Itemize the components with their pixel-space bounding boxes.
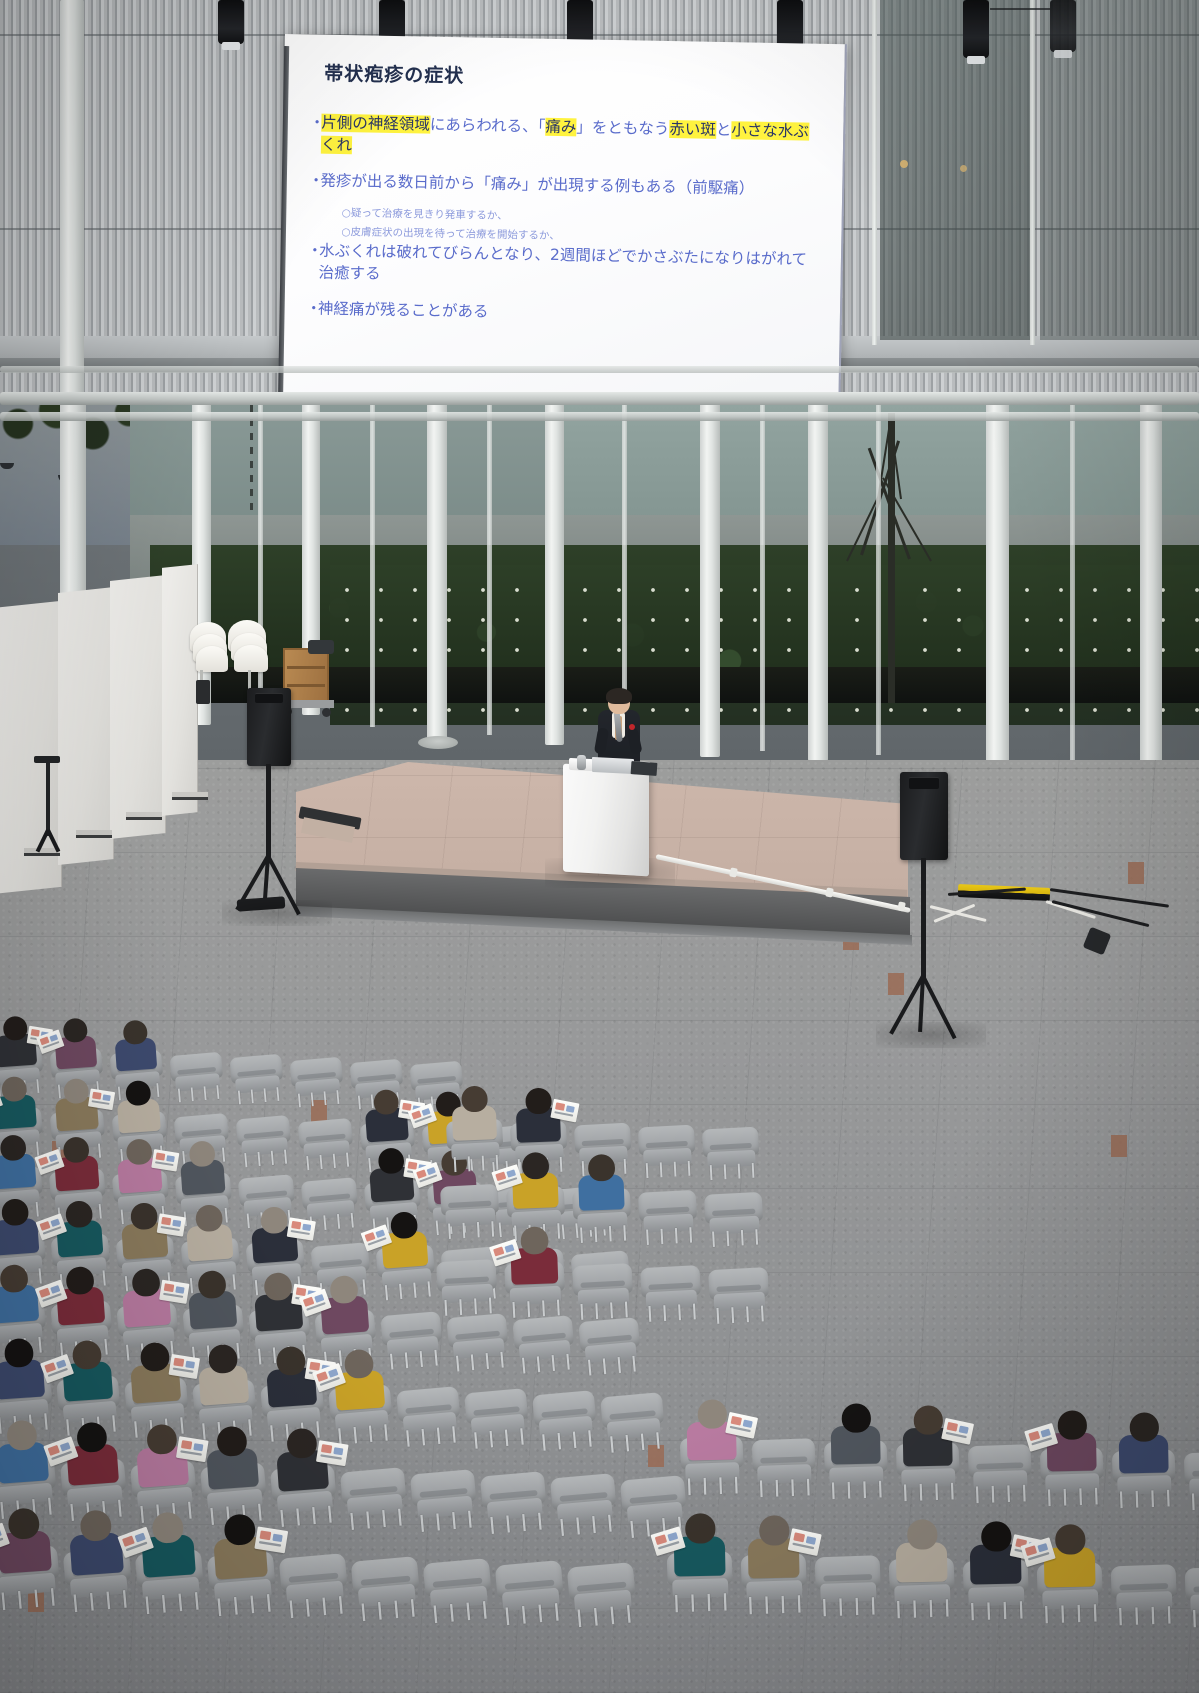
audience-member <box>181 1204 238 1263</box>
audience-chair <box>422 1558 493 1618</box>
audience-member <box>360 1088 413 1143</box>
audience-chair <box>566 1562 637 1622</box>
audience-member <box>130 1423 193 1489</box>
chair-legs <box>675 1593 727 1611</box>
chair-legs <box>1120 1489 1170 1506</box>
audience-member <box>109 1019 160 1072</box>
audience-head <box>0 1198 28 1226</box>
audience-member <box>891 1519 952 1583</box>
audience-member <box>669 1513 730 1577</box>
chair-legs <box>244 1150 287 1167</box>
audience-chair <box>494 1560 565 1620</box>
chair-legs <box>716 1306 763 1323</box>
audience-chair <box>708 1267 770 1319</box>
audience-member <box>270 1427 333 1493</box>
audience-head <box>914 1406 944 1436</box>
audience-member <box>56 1339 117 1402</box>
audience-head <box>2 1016 28 1042</box>
chair-legs <box>580 1302 627 1319</box>
audience-chair <box>702 1127 760 1176</box>
chair-legs <box>712 1230 758 1247</box>
audience-chair <box>396 1386 462 1442</box>
audience-chair <box>550 1473 618 1531</box>
chair-legs <box>306 1152 349 1169</box>
audience-head <box>907 1519 938 1550</box>
audience-chair <box>464 1388 530 1444</box>
audience-member <box>682 1399 741 1460</box>
audience-chair <box>447 1313 510 1367</box>
chair-legs <box>688 1477 738 1494</box>
audience-chair <box>513 1315 576 1369</box>
chair-legs <box>1048 1487 1098 1504</box>
audience-chair <box>301 1177 360 1227</box>
audience-chair <box>579 1317 642 1371</box>
audience-member <box>134 1510 200 1578</box>
chair-legs <box>310 1212 354 1229</box>
audience-member <box>328 1347 389 1410</box>
chair-legs <box>577 1605 630 1626</box>
chair-legs <box>760 1479 810 1496</box>
audience-chair <box>340 1467 408 1525</box>
audience-chair <box>1184 1451 1199 1505</box>
audience-member <box>116 1201 173 1260</box>
chair-legs <box>490 1512 541 1532</box>
chair-legs <box>580 1225 626 1242</box>
chair-legs <box>976 1485 1026 1502</box>
chair-legs <box>237 1088 278 1104</box>
audience-head <box>1058 1410 1088 1440</box>
chair-legs <box>289 1596 342 1617</box>
audience-member <box>192 1343 253 1406</box>
chair-legs <box>610 1432 660 1452</box>
audience-member <box>826 1403 885 1464</box>
chair-legs <box>474 1428 524 1448</box>
audience-member <box>206 1513 272 1581</box>
audience-head <box>373 1088 399 1114</box>
chair-legs <box>456 1351 504 1370</box>
audience-member <box>447 1085 501 1141</box>
audience-chair <box>229 1054 284 1101</box>
chair-legs <box>73 1590 126 1611</box>
audience-member <box>175 1140 230 1196</box>
audience-member <box>183 1269 242 1330</box>
audience-head <box>685 1513 716 1544</box>
audience-chair <box>480 1471 548 1529</box>
audience-member <box>49 1136 104 1192</box>
audience-head <box>461 1086 488 1113</box>
audience-member <box>62 1508 128 1576</box>
audience-member <box>117 1267 176 1328</box>
audience-member <box>376 1210 433 1269</box>
audience-chair <box>297 1117 354 1165</box>
audience-chair <box>752 1438 816 1492</box>
audience-chair <box>532 1390 598 1446</box>
audience-head <box>842 1403 872 1433</box>
audience-chair <box>169 1052 224 1099</box>
chair-legs <box>177 1085 218 1101</box>
audience-member <box>505 1226 562 1285</box>
audience-chair <box>640 1265 702 1317</box>
audience-member <box>965 1521 1026 1585</box>
audience-chair <box>289 1056 344 1103</box>
audience-head <box>1055 1524 1086 1555</box>
chair-legs <box>1 1588 54 1609</box>
audience-head <box>698 1399 728 1429</box>
chair-legs <box>406 1426 456 1446</box>
chair-legs <box>897 1599 949 1617</box>
audience-chair <box>814 1555 881 1611</box>
audience-head <box>7 1507 40 1540</box>
audience-chair <box>278 1553 349 1613</box>
audience-chair <box>381 1311 444 1365</box>
audience-member <box>51 1199 108 1258</box>
chair-legs <box>1045 1604 1097 1622</box>
chair-legs <box>542 1430 592 1450</box>
audience-member <box>511 1087 565 1143</box>
audience-head <box>343 1348 374 1379</box>
audience-member <box>60 1421 123 1487</box>
chair-legs <box>749 1595 801 1613</box>
audience-member <box>112 1138 167 1194</box>
audience-chair <box>638 1190 698 1240</box>
chair-legs <box>454 1155 499 1171</box>
audience-member <box>574 1154 629 1211</box>
chair-legs <box>390 1349 438 1368</box>
chair-legs <box>444 1298 491 1315</box>
audience-chair <box>1110 1564 1177 1620</box>
audience-head <box>520 1226 549 1255</box>
chair-legs <box>648 1304 695 1321</box>
audience-chair <box>350 1556 421 1616</box>
audience-member <box>0 1075 40 1130</box>
audience-chair <box>235 1115 292 1163</box>
chair-legs <box>823 1597 875 1615</box>
chair-legs <box>646 1227 692 1244</box>
chair-legs <box>710 1163 755 1179</box>
chair-legs <box>280 1506 331 1526</box>
audience-member <box>1042 1410 1101 1471</box>
audience-member <box>0 1133 40 1189</box>
audience-chair <box>436 1259 498 1311</box>
chair-legs <box>646 1161 691 1177</box>
audience-member <box>364 1146 419 1202</box>
audience-chair <box>968 1445 1032 1499</box>
chair-legs <box>560 1514 611 1534</box>
handout-paper <box>88 1089 115 1111</box>
audience-head <box>377 1147 404 1174</box>
audience-chair <box>410 1469 478 1527</box>
audience-member <box>200 1425 263 1491</box>
audience-head <box>759 1515 790 1546</box>
audience-member <box>0 1506 56 1574</box>
audience-member <box>743 1515 804 1579</box>
audience-member <box>51 1265 110 1326</box>
chair-legs <box>971 1602 1023 1620</box>
audience-chair <box>600 1392 666 1448</box>
audience-member <box>1114 1412 1173 1473</box>
audience-member <box>0 1015 40 1068</box>
audience-member <box>260 1345 321 1408</box>
audience-member <box>898 1405 957 1466</box>
lecture-hall-photo: 帯状疱疹の症状 ・片側の神経領域にあらわれる、「痛み」をともなう赤い斑と小さな水… <box>0 0 1199 1693</box>
audience-member <box>49 1017 100 1070</box>
audience-chair <box>704 1192 764 1242</box>
audience-chair <box>638 1125 696 1174</box>
audience-member <box>508 1152 563 1209</box>
chair-legs <box>904 1483 954 1500</box>
audience-member <box>246 1206 303 1265</box>
chair-legs <box>145 1592 198 1613</box>
audience-member <box>1039 1523 1100 1587</box>
chair-legs <box>448 1221 494 1238</box>
chair-legs <box>512 1300 559 1317</box>
audience-chair <box>572 1263 634 1315</box>
audience-member <box>112 1079 165 1134</box>
chair-legs <box>832 1481 882 1498</box>
chair-legs <box>385 1281 431 1299</box>
chair-legs <box>1192 1491 1199 1508</box>
audience-member <box>50 1077 103 1132</box>
chair-legs <box>1119 1606 1171 1624</box>
chair-legs <box>522 1353 570 1372</box>
chair-legs <box>588 1356 636 1375</box>
chair-legs <box>297 1090 338 1106</box>
audience-head <box>981 1521 1012 1552</box>
audience-head <box>1130 1412 1160 1442</box>
audience-seating <box>0 0 1199 1693</box>
chair-legs <box>217 1594 270 1615</box>
audience-head <box>62 1018 88 1044</box>
chair-legs <box>505 1603 558 1624</box>
audience-chair <box>1184 1566 1199 1622</box>
audience-member <box>249 1271 308 1332</box>
audience-head <box>525 1088 552 1115</box>
audience-member <box>124 1341 185 1404</box>
chair-legs <box>420 1510 471 1530</box>
chair-legs <box>1193 1608 1199 1626</box>
audience-chair <box>440 1184 500 1234</box>
audience-member <box>315 1273 374 1334</box>
